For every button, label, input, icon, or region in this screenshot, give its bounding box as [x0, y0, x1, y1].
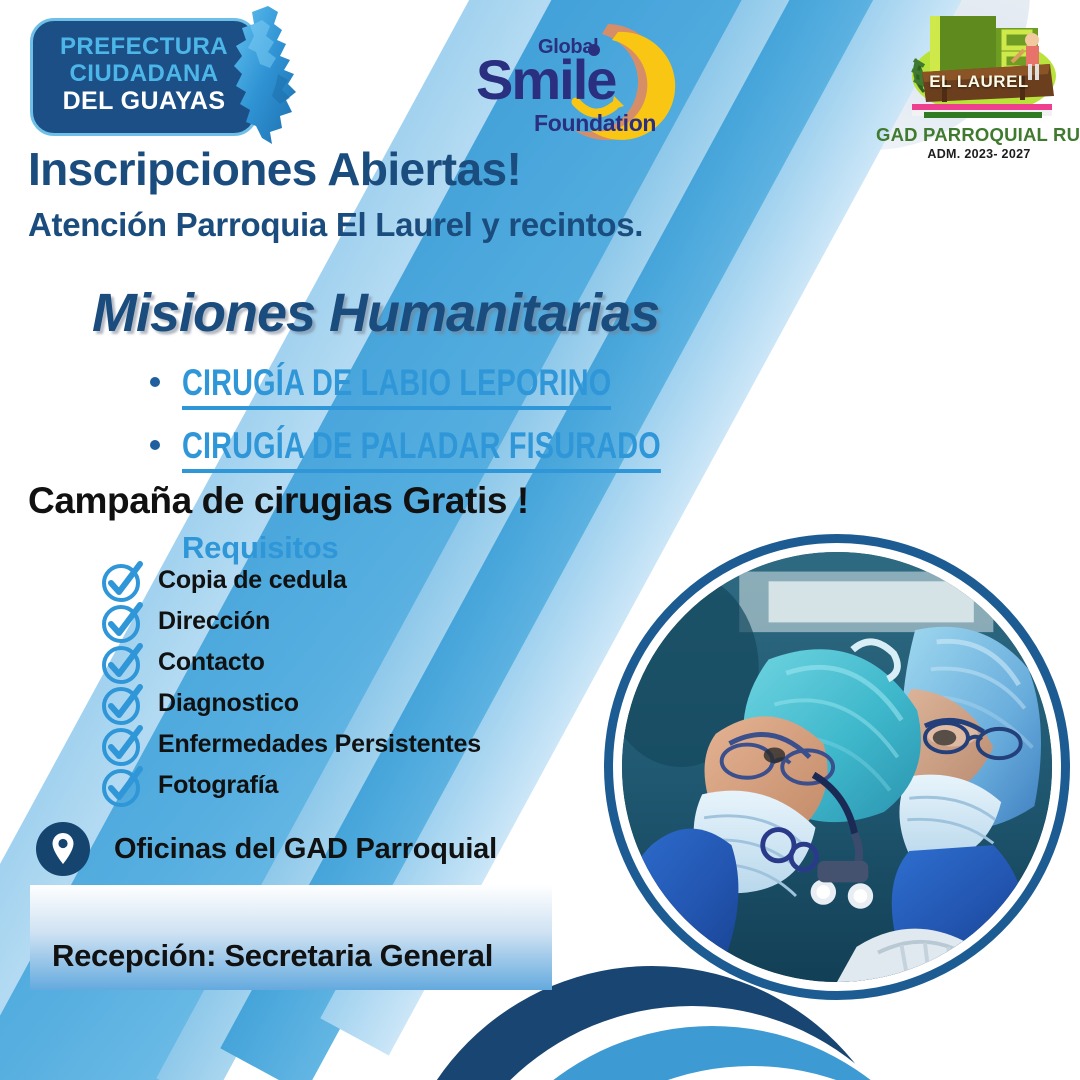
check-circle-icon — [100, 640, 146, 686]
el-laurel-badge-text: EL LAUREL — [929, 72, 1029, 92]
location-row: Oficinas del GAD Parroquial — [36, 822, 497, 876]
headline-inscripciones: Inscripciones Abiertas! — [28, 142, 521, 196]
bullet-dot-icon — [150, 377, 160, 387]
requirement-label: Diagnostico — [158, 689, 299, 718]
surgery-label: CIRUGÍA DE PALADAR FISURADO — [182, 425, 661, 473]
subheadline-atencion: Atención Parroquia El Laurel y recintos. — [28, 206, 643, 244]
reception-label: Recepción: Secretaria General — [30, 938, 493, 990]
requirement-label: Dirección — [158, 607, 270, 636]
requirement-label: Enfermedades Persistentes — [158, 730, 481, 759]
list-item: CIRUGÍA DE PALADAR FISURADO — [150, 425, 770, 473]
check-circle-icon — [100, 599, 146, 645]
gad-subtitle: ADM. 2023- 2027 — [876, 147, 1080, 161]
list-item: Dirección — [100, 601, 481, 642]
logo-global-smile-foundation: Global Smile Foundation — [468, 18, 698, 148]
smile-foundation-text: Foundation — [534, 110, 656, 137]
surgery-photo-frame — [604, 534, 1070, 1000]
logo-gad-parroquial-el-laurel: EL LAUREL GAD PARROQUIAL RURAL ADM. 2023… — [876, 14, 1080, 174]
corner-arc-white-inner — [492, 1066, 1012, 1080]
requirement-label: Copia de cedula — [158, 566, 347, 595]
surgery-label: CIRUGÍA DE LABIO LEPORINO — [182, 362, 611, 410]
requirements-list: Copia de cedula Dirección Contacto Diagn… — [100, 560, 481, 806]
list-item: Fotografía — [100, 765, 481, 806]
list-item: Enfermedades Persistentes — [100, 724, 481, 765]
surgeons-operating-photo — [622, 552, 1052, 982]
reception-banner: Recepción: Secretaria General — [30, 885, 552, 990]
gad-title: GAD PARROQUIAL RURAL — [876, 124, 1080, 146]
list-item: Diagnostico — [100, 683, 481, 724]
campaign-free-text: Campaña de cirugias Gratis ! — [28, 480, 529, 522]
map-pin-icon — [36, 822, 90, 876]
requirement-label: Fotografía — [158, 771, 278, 800]
check-circle-icon — [100, 558, 146, 604]
list-item: Contacto — [100, 642, 481, 683]
corner-arc-blue — [452, 1026, 972, 1080]
check-circle-icon — [100, 681, 146, 727]
guayas-map-icon — [222, 4, 314, 146]
title-misiones-humanitarias: Misiones Humanitarias — [92, 282, 659, 344]
bullet-dot-icon — [150, 440, 160, 450]
requirement-label: Contacto — [158, 648, 265, 677]
surgery-photo — [622, 552, 1052, 982]
location-label: Oficinas del GAD Parroquial — [114, 833, 497, 866]
poster-canvas: PREFECTURA CIUDADANA DEL GUAYAS Global S… — [0, 0, 1080, 1080]
check-circle-icon — [100, 763, 146, 809]
corner-arc-white — [432, 1006, 952, 1080]
el-laurel-emblem-icon: EL LAUREL — [884, 14, 1074, 122]
surgery-list: CIRUGÍA DE LABIO LEPORINO CIRUGÍA DE PAL… — [150, 362, 770, 488]
list-item: CIRUGÍA DE LABIO LEPORINO — [150, 362, 770, 410]
list-item: Copia de cedula — [100, 560, 481, 601]
smile-main-text: Smile — [476, 52, 615, 108]
check-circle-icon — [100, 722, 146, 768]
